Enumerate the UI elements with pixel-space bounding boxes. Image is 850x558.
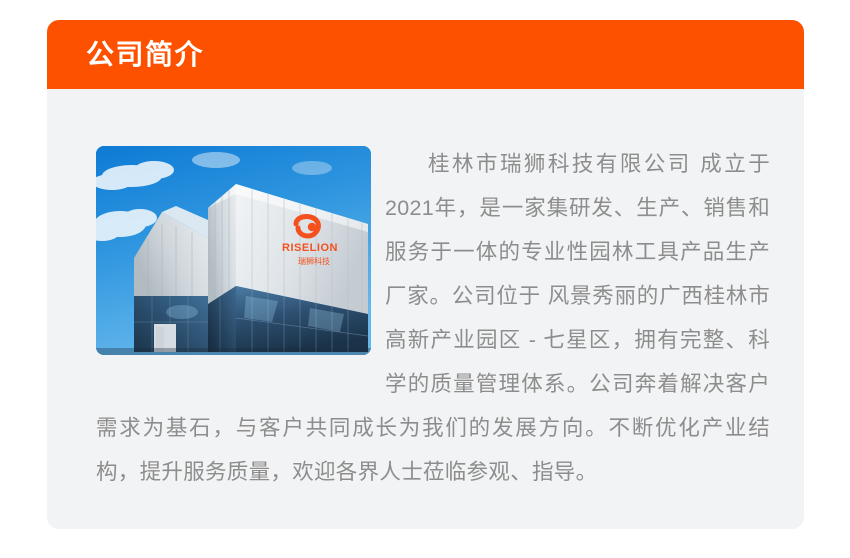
company-profile-card: 公司简介 xyxy=(47,20,804,529)
company-building-photo: RISELION 瑞狮科技 xyxy=(96,146,371,355)
svg-text:瑞狮科技: 瑞狮科技 xyxy=(298,256,330,266)
svg-text:RISELION: RISELION xyxy=(282,242,338,254)
card-body: RISELION 瑞狮科技 桂林市瑞狮科技有限公司 成立于2021年，是一家集研… xyxy=(47,89,804,529)
page-title: 公司简介 xyxy=(86,41,204,69)
page-root: 公司简介 xyxy=(0,0,850,558)
section-header-banner: 公司简介 xyxy=(47,20,804,89)
building-illustration: RISELION 瑞狮科技 xyxy=(96,146,371,355)
